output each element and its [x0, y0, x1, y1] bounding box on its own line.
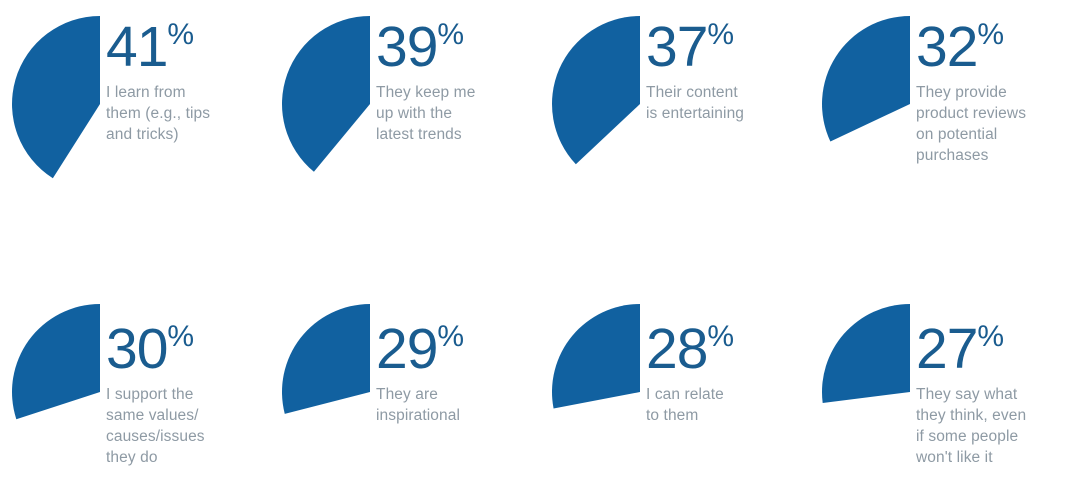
stat-cell: 41% I learn from them (e.g., tips and tr…	[0, 0, 270, 290]
infographic-root: 41% I learn from them (e.g., tips and tr…	[0, 0, 1080, 486]
stat-cell: 32% They provide product reviews on pote…	[810, 0, 1080, 290]
stat-label: They say what they think, even if some p…	[916, 384, 1076, 468]
stat-value: 27%	[916, 320, 1076, 378]
percent-sign: %	[437, 320, 464, 353]
stat-text-block: 41% I learn from them (e.g., tips and tr…	[106, 18, 266, 145]
stat-text-block: 28% I can relate to them	[646, 320, 806, 426]
percent-sign: %	[707, 320, 734, 353]
stat-label: They are inspirational	[376, 384, 536, 426]
stat-value: 28%	[646, 320, 806, 378]
stat-value: 41%	[106, 18, 266, 76]
stat-cell: 28% I can relate to them	[540, 290, 810, 486]
stat-value-number: 41	[106, 15, 167, 79]
stat-label: They provide product reviews on potentia…	[916, 82, 1076, 166]
percent-sign: %	[437, 18, 464, 51]
pie-wedge-path	[552, 304, 640, 408]
stat-value-number: 27	[916, 317, 977, 381]
pie-wedge-path	[552, 16, 640, 164]
percent-sign: %	[707, 18, 734, 51]
pie-wedge-path	[282, 304, 370, 414]
stat-value: 29%	[376, 320, 536, 378]
stat-value: 32%	[916, 18, 1076, 76]
stat-value-number: 29	[376, 317, 437, 381]
stat-text-block: 30% I support the same values/ causes/is…	[106, 320, 266, 468]
stat-cell: 37% Their content is entertaining	[540, 0, 810, 290]
stat-label: I support the same values/ causes/issues…	[106, 384, 266, 468]
stat-cell: 27% They say what they think, even if so…	[810, 290, 1080, 486]
percent-sign: %	[167, 320, 194, 353]
pie-wedge-path	[12, 16, 100, 178]
stat-text-block: 27% They say what they think, even if so…	[916, 320, 1076, 468]
stat-text-block: 32% They provide product reviews on pote…	[916, 18, 1076, 166]
pie-wedge-path	[282, 16, 370, 172]
stat-value: 37%	[646, 18, 806, 76]
stat-cell: 30% I support the same values/ causes/is…	[0, 290, 270, 486]
stat-cell: 29% They are inspirational	[270, 290, 540, 486]
stat-value-number: 32	[916, 15, 977, 79]
pie-wedge-path	[12, 304, 100, 419]
stat-value-number: 28	[646, 317, 707, 381]
stat-label: They keep me up with the latest trends	[376, 82, 536, 145]
stat-value-number: 37	[646, 15, 707, 79]
stat-text-block: 37% Their content is entertaining	[646, 18, 806, 124]
stat-text-block: 39% They keep me up with the latest tren…	[376, 18, 536, 145]
stat-label: I can relate to them	[646, 384, 806, 426]
stat-label: Their content is entertaining	[646, 82, 806, 124]
percent-sign: %	[977, 320, 1004, 353]
stat-cell: 39% They keep me up with the latest tren…	[270, 0, 540, 290]
stat-value-number: 30	[106, 317, 167, 381]
stat-value: 39%	[376, 18, 536, 76]
pie-wedge-path	[822, 16, 910, 141]
stat-text-block: 29% They are inspirational	[376, 320, 536, 426]
stat-label: I learn from them (e.g., tips and tricks…	[106, 82, 266, 145]
stat-value: 30%	[106, 320, 266, 378]
pie-wedge-path	[822, 304, 910, 403]
percent-sign: %	[167, 18, 194, 51]
percent-sign: %	[977, 18, 1004, 51]
stat-value-number: 39	[376, 15, 437, 79]
